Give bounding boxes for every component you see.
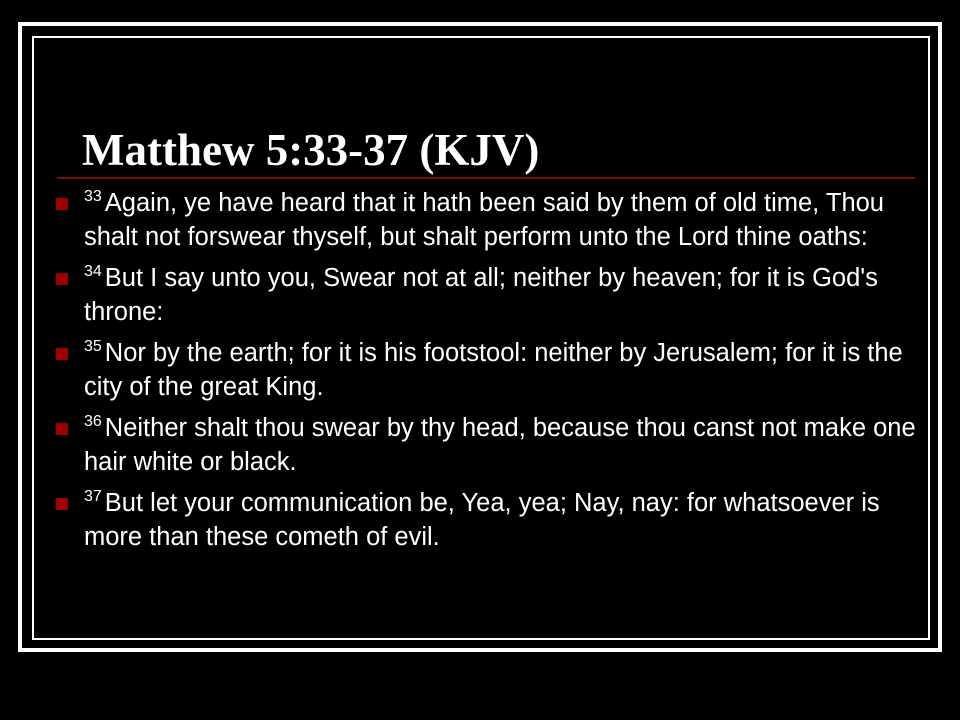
verse-text: But I say unto you, Swear not at all; ne… bbox=[84, 264, 878, 326]
verse-list: 33Again, ye have heard that it hath been… bbox=[40, 186, 922, 561]
page-title: Matthew 5:33-37 (KJV) bbox=[82, 122, 882, 178]
square-bullet-icon bbox=[56, 198, 68, 210]
verse-text: Nor by the earth; for it is his footstoo… bbox=[84, 339, 903, 401]
verse-number: 33 bbox=[84, 188, 102, 205]
square-bullet-icon bbox=[56, 348, 68, 360]
slide-canvas: Matthew 5:33-37 (KJV) 33Again, ye have h… bbox=[0, 0, 960, 720]
verse-number: 35 bbox=[84, 338, 102, 355]
verse-number: 37 bbox=[84, 488, 102, 505]
title-divider-rule bbox=[57, 177, 915, 179]
verse-text: But let your communication be, Yea, yea;… bbox=[84, 489, 880, 551]
slide-content: Matthew 5:33-37 (KJV) 33Again, ye have h… bbox=[40, 44, 922, 632]
verse-number: 34 bbox=[84, 263, 102, 280]
list-item: 34But I say unto you, Swear not at all; … bbox=[40, 261, 922, 329]
square-bullet-icon bbox=[56, 273, 68, 285]
square-bullet-icon bbox=[56, 498, 68, 510]
list-item: 37But let your communication be, Yea, ye… bbox=[40, 486, 922, 554]
verse-text: Neither shalt thou swear by thy head, be… bbox=[84, 414, 916, 476]
list-item: 35Nor by the earth; for it is his footst… bbox=[40, 336, 922, 404]
verse-text: Again, ye have heard that it hath been s… bbox=[84, 189, 884, 251]
verse-number: 36 bbox=[84, 413, 102, 430]
list-item: 36Neither shalt thou swear by thy head, … bbox=[40, 411, 922, 479]
square-bullet-icon bbox=[56, 423, 68, 435]
list-item: 33Again, ye have heard that it hath been… bbox=[40, 186, 922, 254]
